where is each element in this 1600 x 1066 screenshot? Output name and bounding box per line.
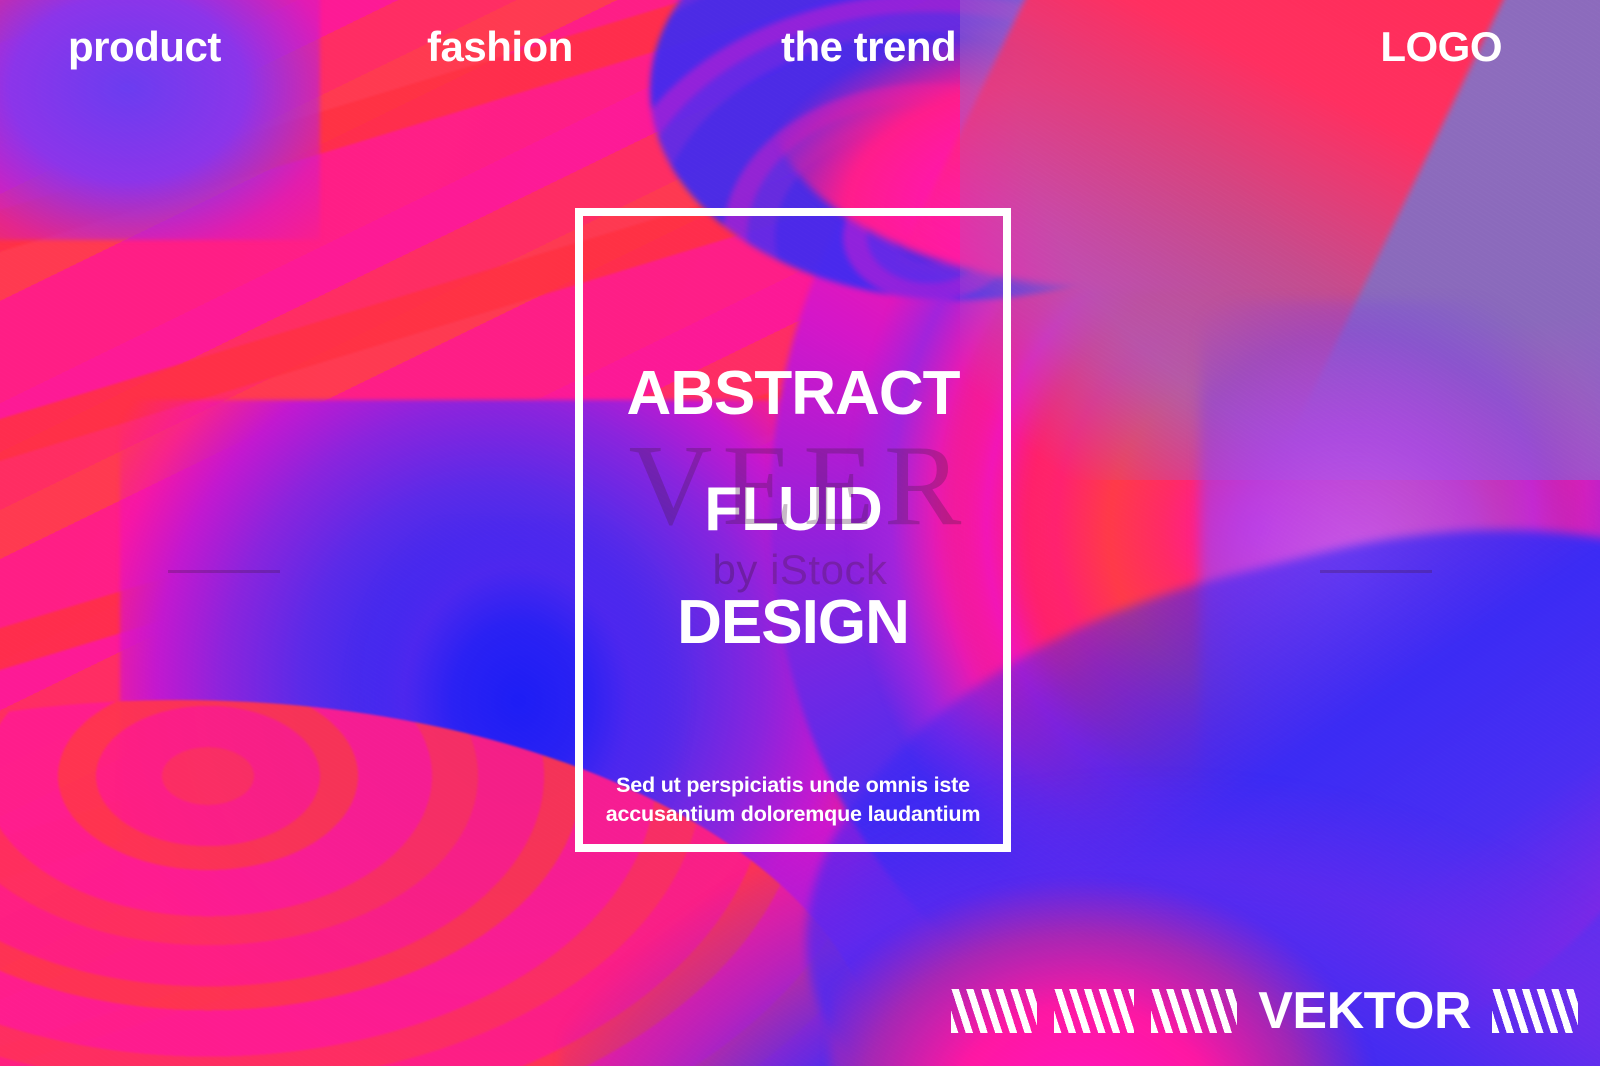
footer-vektor-bar: VEKTOR bbox=[0, 982, 1600, 1040]
nav-item-the-trend[interactable]: the trend bbox=[781, 26, 956, 68]
poster-canvas: product fashion the trend LOGO VEER by i… bbox=[0, 0, 1600, 1066]
headline-line-abstract: ABSTRACT bbox=[583, 363, 1003, 425]
hatch-stripes-3 bbox=[1151, 989, 1237, 1033]
headline-frame: ABSTRACT FLUID DESIGN Sed ut perspiciati… bbox=[575, 208, 1011, 852]
nav-item-fashion[interactable]: fashion bbox=[427, 26, 573, 68]
hatch-stripes-2 bbox=[1054, 989, 1134, 1033]
nav-item-product[interactable]: product bbox=[68, 26, 221, 68]
hatch-stripes-1 bbox=[951, 989, 1037, 1033]
headline-frame-inner: ABSTRACT FLUID DESIGN Sed ut perspiciati… bbox=[583, 216, 1003, 844]
logo-text[interactable]: LOGO bbox=[1380, 26, 1502, 68]
headline-line-fluid: FLUID bbox=[583, 479, 1003, 541]
top-navigation: product fashion the trend LOGO bbox=[0, 0, 1600, 92]
hatch-stripes-4 bbox=[1492, 989, 1578, 1033]
footer-label-vektor: VEKTOR bbox=[1258, 985, 1471, 1037]
headline-line-design: DESIGN bbox=[583, 592, 1003, 654]
body-copy: Sed ut perspiciatis unde omnis iste accu… bbox=[597, 771, 989, 828]
